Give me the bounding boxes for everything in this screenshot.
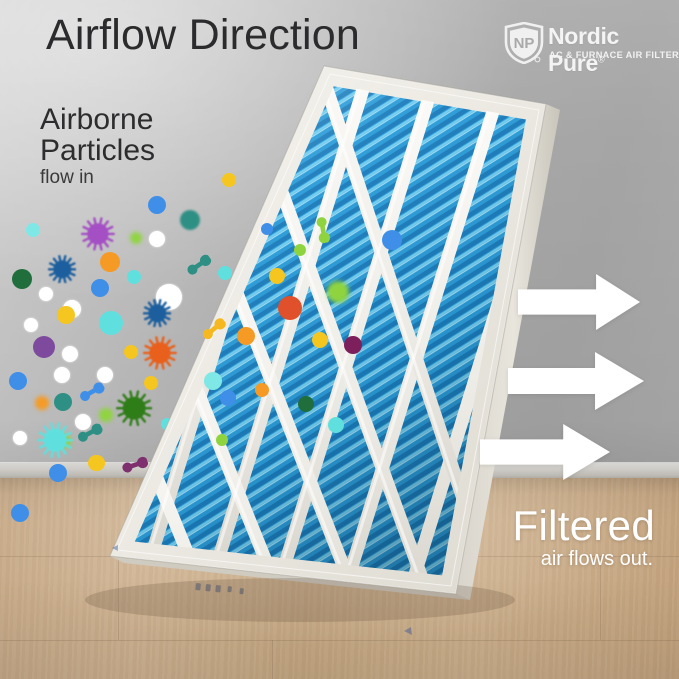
brand-logo: NP Nordic Pure® AC & FURNACE AIR FILTERS (504, 22, 664, 66)
particle-dot (327, 281, 349, 303)
brand-tagline: AC & FURNACE AIR FILTERS (549, 50, 679, 60)
shield-initials: NP (514, 35, 535, 52)
particle-dot (328, 417, 344, 433)
particle-dot (269, 268, 285, 284)
inflow-sublabel: flow in (40, 167, 94, 189)
particle-dot (255, 383, 269, 397)
particle-dot (261, 223, 273, 235)
air-filter-svg (0, 0, 679, 679)
inflow-label: Airborne Particles (40, 104, 155, 166)
airflow-arrow-bottom (480, 424, 610, 480)
particle-dot (278, 296, 302, 320)
particle-dot (298, 396, 314, 412)
outflow-label: Filtered (513, 502, 655, 550)
particle-dot (312, 332, 328, 348)
particle-dot (220, 390, 236, 406)
inflow-label-line2: Particles (40, 135, 155, 166)
page-title: Airflow Direction (46, 14, 360, 57)
inflow-label-line1: Airborne (40, 103, 153, 136)
shield-icon: NP (504, 22, 544, 64)
airflow-arrow-top (518, 274, 640, 330)
airflow-direction-infographic: Airflow Direction Airborne Particles flo… (0, 0, 679, 679)
outflow-sublabel: air flows out. (541, 548, 653, 571)
particle-dot (216, 434, 228, 446)
particle-dot (344, 336, 362, 354)
airflow-arrow-middle (508, 352, 644, 410)
particle-dot (204, 372, 222, 390)
air-filter-product (0, 0, 679, 679)
particle-dot (294, 244, 306, 256)
particle-dot (382, 230, 402, 250)
particle-dot (237, 327, 255, 345)
